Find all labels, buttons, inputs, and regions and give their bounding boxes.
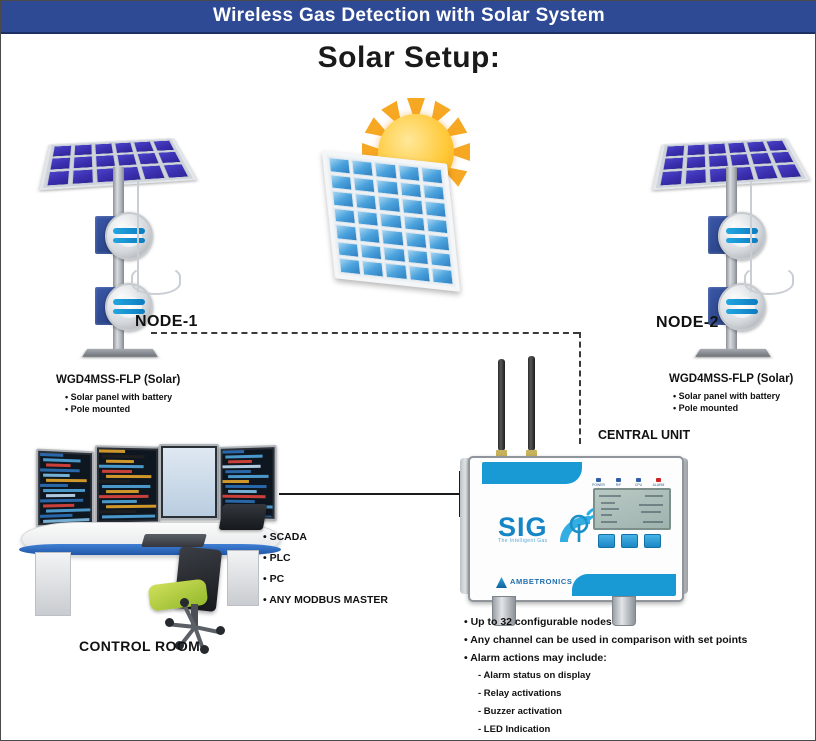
screen-row — [228, 475, 268, 478]
led-label-power: POWER — [590, 483, 607, 487]
central-unit-feature-3: - Alarm status on display — [464, 667, 747, 685]
screen-row — [223, 465, 261, 469]
screen-row — [46, 479, 86, 482]
screen-row — [106, 490, 139, 493]
solar-cell — [686, 156, 706, 169]
screen-row — [99, 510, 135, 514]
control-room-interface-3: • ANY MODBUS MASTER — [263, 590, 388, 611]
control-room-interface-list: • SCADA• PLC• PC• ANY MODBUS MASTER — [263, 527, 388, 611]
screen-row — [225, 485, 266, 488]
control-room-interface-1: • PLC — [263, 548, 388, 569]
control-room-interface-2: • PC — [263, 569, 388, 590]
solar-cell — [380, 212, 403, 229]
monitor-3 — [159, 444, 219, 520]
led-r/f — [616, 478, 621, 482]
brand-name: AMBETRONICS — [510, 577, 572, 586]
solar-cell — [137, 152, 160, 164]
node-1-device-title: WGD4MSS-FLP (Solar) — [56, 374, 180, 386]
antenna-left — [498, 359, 505, 451]
central-unit-feature-0: • Up to 32 configurable nodes — [464, 613, 747, 631]
screen-row — [46, 508, 90, 512]
solar-cell — [422, 184, 445, 201]
solar-cell — [401, 198, 424, 215]
solar-cell — [750, 152, 773, 164]
node-2-assembly — [646, 87, 816, 377]
solar-cell — [141, 165, 166, 180]
diagram-page: Wireless Gas Detection with Solar System… — [0, 0, 816, 741]
screen-row — [103, 485, 150, 488]
screen-row — [223, 450, 245, 454]
central-unit-feature-2: • Alarm actions may include: — [464, 649, 747, 667]
header-banner: Wireless Gas Detection with Solar System — [1, 1, 816, 34]
solar-cell — [328, 157, 351, 174]
screen-row — [40, 468, 79, 472]
pole-base — [695, 349, 770, 357]
solar-cell — [403, 215, 426, 232]
screen-row — [99, 480, 130, 483]
solar-cell — [729, 154, 751, 167]
screen-row — [40, 484, 68, 487]
panel-cable — [137, 179, 143, 293]
central-unit-device: SIG The Intelligent Gas AMBETRONICS POWE… — [460, 456, 688, 598]
feature-text: Pole mounted — [679, 403, 739, 413]
screen-row — [40, 514, 72, 518]
solar-cell — [776, 164, 802, 178]
solar-cell — [334, 207, 357, 224]
ambetronics-logo-icon — [496, 577, 507, 588]
monitor-2 — [95, 445, 160, 524]
solar-cell — [339, 258, 362, 275]
solar-cell — [163, 164, 189, 178]
keyboard — [141, 534, 207, 547]
screen-row — [43, 458, 80, 462]
screen-row — [43, 474, 69, 477]
monitor-1 — [36, 449, 94, 528]
screen-row — [228, 490, 256, 493]
desk-phone — [219, 504, 268, 530]
solar-cell — [766, 140, 788, 151]
central-unit-feature-1: • Any channel can be used in comparison … — [464, 631, 747, 649]
led-power — [596, 478, 601, 482]
solar-cell — [73, 156, 93, 169]
solar-cell — [428, 234, 451, 251]
solar-cell — [662, 157, 683, 170]
screen-row — [106, 475, 152, 478]
solar-cell — [431, 268, 454, 285]
solar-cell — [398, 164, 421, 181]
keypad-button-2[interactable] — [621, 534, 638, 548]
screen-row — [225, 470, 250, 473]
solar-cell — [399, 181, 422, 198]
chair-wheel — [200, 645, 209, 654]
screen-row — [103, 500, 138, 503]
solar-cell — [74, 144, 93, 155]
control-room-illustration — [15, 444, 283, 639]
node-1-label: NODE-1 — [135, 313, 198, 331]
screen-row — [223, 480, 249, 483]
feature-text: Solar panel with battery — [679, 391, 781, 401]
keypad-button-3[interactable] — [644, 534, 661, 548]
screen-row — [103, 455, 145, 459]
panel-cable — [750, 179, 756, 293]
antenna-right — [528, 356, 535, 451]
detector-head — [718, 212, 766, 260]
screen-row — [99, 449, 125, 453]
solar-cell — [429, 251, 452, 268]
node-2-label: NODE-2 — [656, 314, 719, 332]
solar-cell — [94, 143, 113, 154]
screen-row — [225, 455, 262, 459]
solar-cell — [337, 241, 360, 258]
control-room-interface-0: • SCADA — [263, 527, 388, 548]
enclosure-front-panel: SIG The Intelligent Gas AMBETRONICS POWE… — [468, 456, 684, 602]
detector-band — [726, 309, 758, 314]
solar-cell — [116, 154, 138, 167]
solar-cell — [383, 246, 406, 263]
solar-cell — [46, 171, 69, 186]
chair-wheel — [180, 598, 189, 607]
solar-cell — [134, 141, 155, 152]
solar-cell — [408, 265, 431, 282]
detector-head — [105, 212, 153, 260]
solar-cell — [687, 144, 706, 155]
solar-cell — [360, 244, 383, 261]
solar-cell — [330, 174, 353, 191]
solar-cell — [424, 201, 447, 218]
wireless-link-to-central-unit — [579, 332, 581, 444]
feature-text: Pole mounted — [71, 404, 131, 414]
modbus-link-line — [279, 493, 461, 495]
solar-cell — [335, 224, 358, 241]
feature-text: Solar panel with battery — [71, 392, 173, 402]
screen-row — [225, 500, 255, 503]
solar-cell — [771, 151, 795, 163]
solar-cell — [158, 151, 182, 163]
wireless-link-node1-node2 — [151, 332, 579, 334]
led-label-alarm: ALARM — [650, 483, 667, 487]
screen-row — [40, 499, 83, 503]
node-2-device-title: WGD4MSS-FLP (Solar) — [669, 373, 793, 385]
desk-leg-left — [35, 552, 71, 616]
solar-cell — [421, 167, 444, 184]
solar-cell — [358, 227, 381, 244]
gas-detector-upper — [95, 212, 141, 258]
screen-row — [43, 504, 74, 508]
accent-stripe-bottom — [572, 574, 676, 596]
solar-cell — [357, 210, 380, 227]
solar-cell — [754, 165, 779, 180]
solar-cell — [747, 141, 768, 152]
screen-row — [228, 460, 252, 463]
solar-cell — [708, 155, 729, 168]
solar-cell — [426, 217, 449, 234]
screen-row — [106, 520, 144, 521]
node-2-feature-1: • Pole mounted — [673, 403, 738, 413]
solar-cell — [727, 142, 747, 153]
solar-cell — [378, 196, 401, 213]
solar-cell — [659, 171, 682, 186]
led-label-r/f: R/F — [610, 483, 627, 487]
screen-row — [106, 460, 134, 463]
banner-title: Wireless Gas Detection with Solar System — [1, 1, 816, 32]
sun-solar-illustration — [326, 106, 486, 281]
gas-detector-upper — [708, 212, 754, 258]
accent-stripe-top — [482, 462, 582, 484]
central-unit-label: CENTRAL UNIT — [598, 428, 690, 442]
central-unit-feature-6: - LED Indication — [464, 721, 747, 739]
solar-panel-illustration — [322, 150, 460, 292]
solar-cell — [406, 249, 429, 266]
solar-cell — [351, 159, 374, 176]
node-2-feature-0: • Solar panel with battery — [673, 391, 780, 401]
solar-cell — [153, 140, 175, 151]
solar-cell — [665, 145, 685, 156]
screen-row — [106, 505, 156, 509]
screen-row — [46, 494, 75, 497]
screen-row — [46, 463, 70, 467]
led-alarm — [656, 478, 661, 482]
detector-band — [113, 299, 145, 305]
sig-logo-tagline: The Intelligent Gas — [498, 538, 548, 544]
screen-row — [103, 515, 155, 519]
central-unit-feature-list: • Up to 32 configurable nodes• Any chann… — [464, 613, 747, 739]
screen-row — [40, 453, 63, 457]
pole-base — [82, 349, 157, 357]
chair-wheel — [216, 626, 225, 635]
node-1-feature-0: • Solar panel with battery — [65, 392, 172, 402]
solar-cell — [355, 193, 378, 210]
solar-cell — [381, 229, 404, 246]
solar-cell — [353, 176, 376, 193]
control-room-label: CONTROL ROOM — [79, 638, 200, 654]
solar-cell — [72, 169, 94, 184]
solar-cell — [332, 191, 355, 208]
page-title: Solar Setup: — [1, 41, 816, 75]
solar-cell — [362, 261, 385, 278]
desk-leg-right — [227, 550, 259, 606]
solar-cell — [404, 232, 427, 249]
solar-cell — [95, 155, 116, 168]
led-cpu — [636, 478, 641, 482]
solar-cell — [52, 145, 72, 156]
lcd-display — [593, 488, 671, 530]
screen-row — [223, 495, 266, 499]
solar-cell — [385, 263, 408, 280]
screen-row — [43, 489, 85, 492]
solar-cell — [707, 143, 726, 154]
screen-row — [103, 470, 132, 473]
node-1-feature-1: • Pole mounted — [65, 404, 130, 414]
solar-cell — [376, 179, 399, 196]
keypad-button-1[interactable] — [598, 534, 615, 548]
detector-band — [726, 299, 758, 305]
solar-cell — [685, 169, 707, 184]
led-label-cpu: CPU — [630, 483, 647, 487]
central-unit-feature-4: - Relay activations — [464, 685, 747, 703]
screen-row — [99, 465, 143, 468]
solar-cell — [374, 162, 397, 179]
central-unit-feature-5: - Buzzer activation — [464, 703, 747, 721]
solar-cell — [49, 157, 70, 170]
screen-row — [99, 495, 148, 498]
solar-cell — [114, 142, 134, 153]
